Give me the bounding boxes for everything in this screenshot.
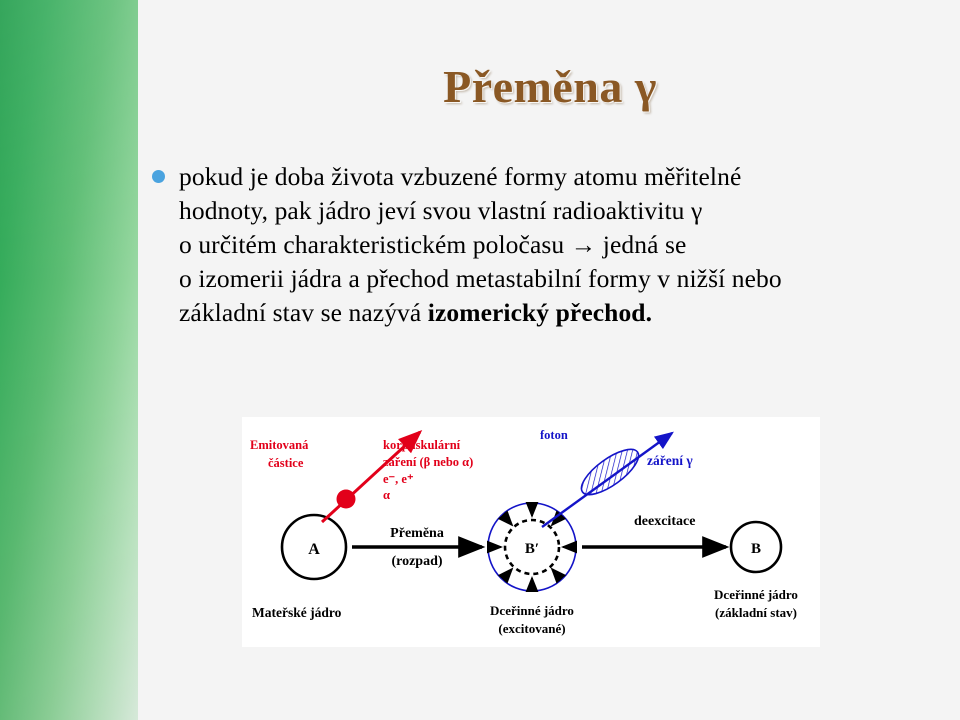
left-green-bar (0, 0, 138, 720)
nucleus-b-prime-label: B′ (525, 541, 539, 557)
left-green-bar-shading (0, 0, 138, 720)
transformation-label-1: Přeměna (390, 526, 444, 541)
transformation-label-2: (rozpad) (391, 554, 442, 569)
corpuscular-label-4: α (383, 488, 390, 502)
bullet-text: pokud je doba života vzbuzené formy atom… (179, 160, 782, 330)
nucleus-b-label: B (751, 541, 761, 557)
daughter-nucleus-ground-label-2: (základní stav) (715, 605, 797, 620)
parent-nucleus-label: Mateřské jádro (252, 605, 342, 620)
decay-diagram-figure: A B′ B Přeměna (rozpad) (242, 417, 820, 647)
nucleus-a-label: A (308, 541, 320, 558)
daughter-nucleus-ground-label-1: Dceřinné jádro (714, 587, 798, 602)
corpuscular-label-2: záření (β nebo α) (383, 455, 473, 469)
emitted-particle-label-2: částice (268, 456, 304, 470)
deexcitation-label: deexcitace (634, 514, 695, 529)
bullet-item: pokud je doba života vzbuzené formy atom… (152, 160, 942, 330)
bullet-dot-icon (152, 170, 165, 183)
emitted-particle-dot-icon (337, 490, 356, 509)
corpuscular-label-3: e⁻, e⁺ (383, 472, 414, 486)
photon-label: foton (540, 428, 568, 442)
page-title: Přeměna γ (170, 60, 930, 113)
daughter-nucleus-excited-label-1: Dceřinné jádro (490, 603, 574, 618)
corpuscular-label-1: korpuskulární (383, 438, 461, 452)
emitted-particle-label-1: Emitovaná (250, 438, 309, 452)
bullet-text-emphasis: izomerický přechod. (428, 298, 652, 327)
slide: Přeměna γ pokud je doba života vzbuzené … (0, 0, 960, 720)
gamma-radiation-label: záření γ (647, 453, 693, 468)
daughter-nucleus-excited-label-2: (excitované) (498, 621, 565, 636)
